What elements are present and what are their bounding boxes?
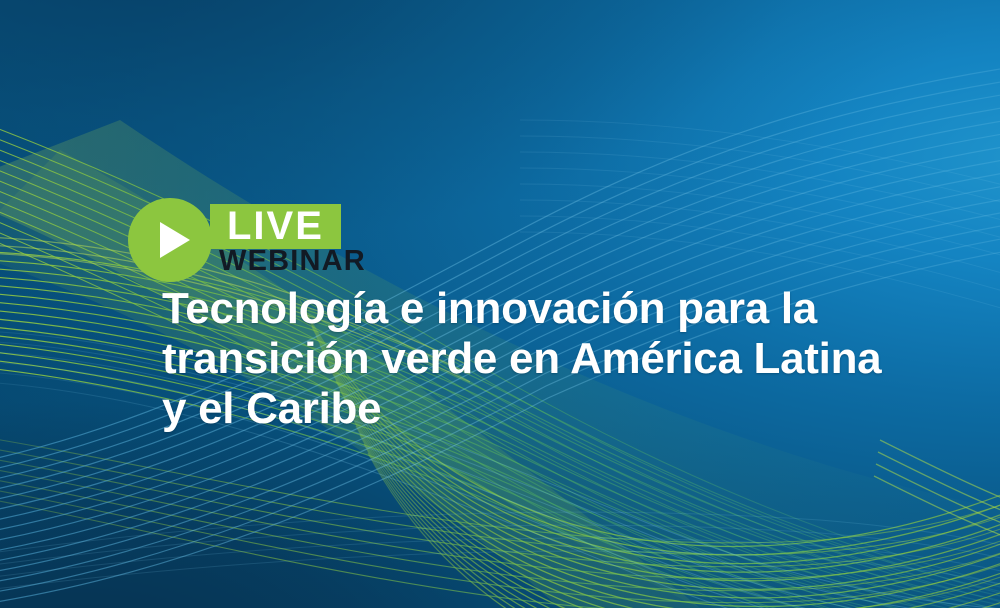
page-title: Tecnología e innovación para la transici… bbox=[162, 284, 962, 434]
title-line-2: transición verde en América Latina bbox=[162, 334, 962, 384]
title-line-1: Tecnología e innovación para la bbox=[162, 284, 962, 334]
play-button-circle[interactable] bbox=[128, 198, 212, 282]
webinar-promo-banner: LIVE WEBINAR Tecnología e innovación par… bbox=[0, 0, 1000, 608]
play-icon bbox=[160, 222, 190, 258]
live-badge-label: LIVE bbox=[227, 203, 324, 249]
title-line-3: y el Caribe bbox=[162, 384, 962, 434]
live-badge: LIVE bbox=[210, 204, 341, 249]
webinar-label: WEBINAR bbox=[219, 245, 366, 277]
